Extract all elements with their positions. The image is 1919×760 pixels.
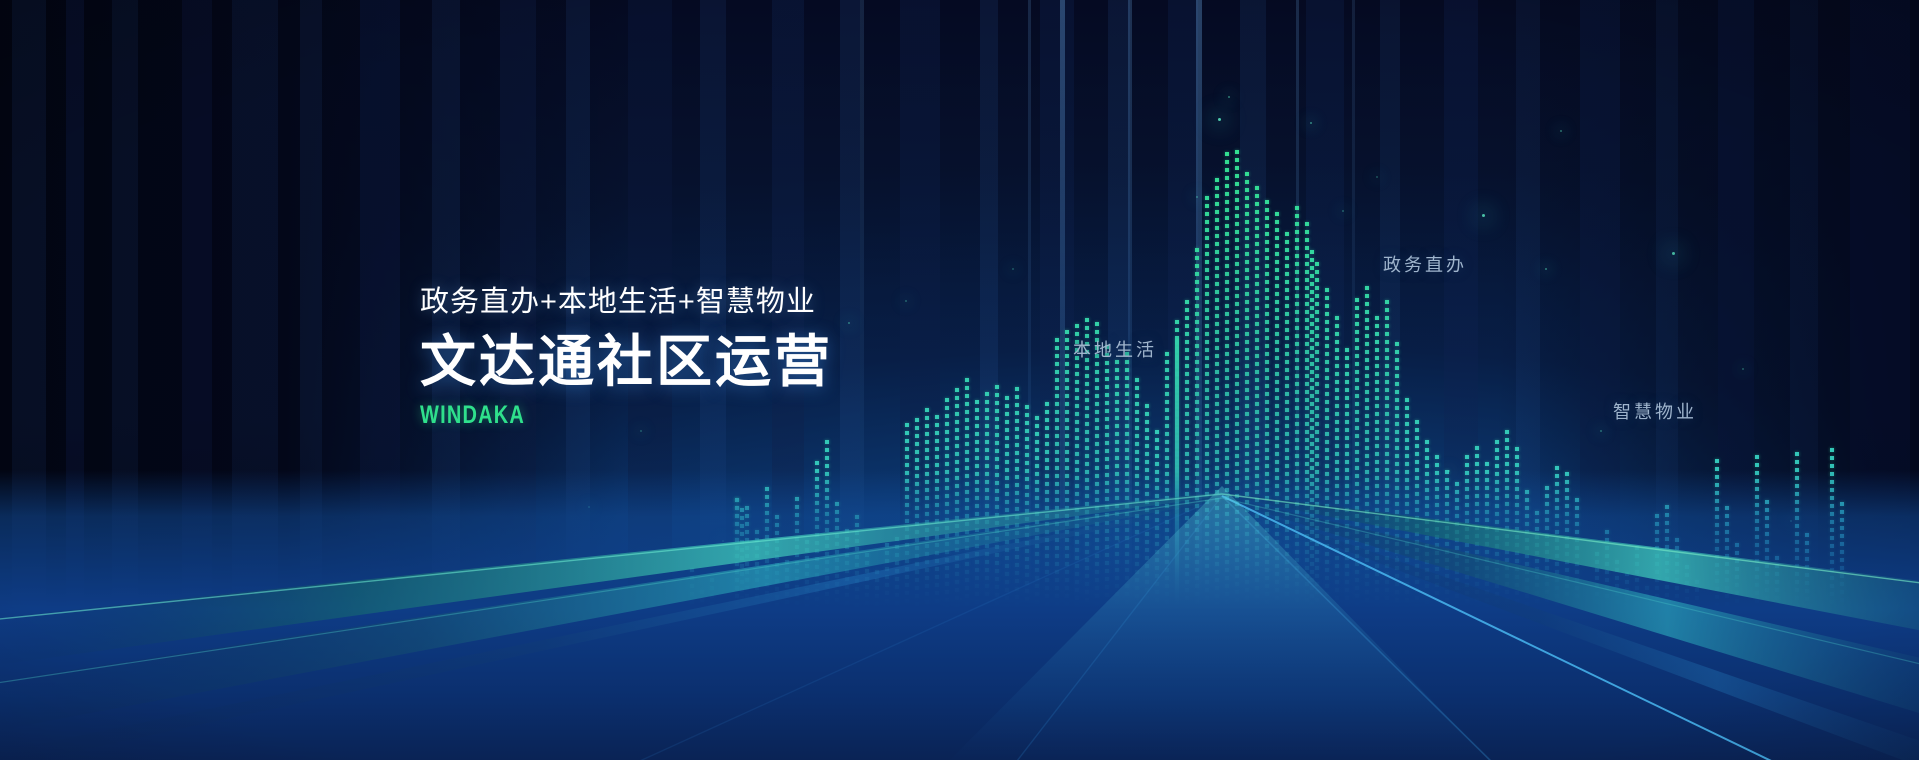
skyline-dot (1355, 394, 1359, 398)
skyline-dot (1055, 338, 1059, 342)
skyline-dot (1310, 282, 1314, 286)
skyline-dot (985, 432, 989, 436)
skyline-dot (1325, 288, 1329, 292)
skyline-dot (1405, 462, 1409, 466)
glow-particle (1545, 268, 1547, 270)
skyline-dot (1315, 310, 1319, 314)
skyline-dot (1310, 418, 1314, 422)
skyline-dot (945, 406, 949, 410)
skyline-dot (1235, 358, 1239, 362)
skyline-dot (1175, 328, 1179, 332)
skyline-dot (1425, 440, 1429, 444)
skyline-dot (1205, 316, 1209, 320)
skyline-dot (1245, 172, 1249, 176)
skyline-dot (1345, 436, 1349, 440)
skyline-dot (1185, 308, 1189, 312)
skyline-dot (1265, 312, 1269, 316)
skyline-dot (1375, 380, 1379, 384)
skyline-dot (1045, 418, 1049, 422)
skyline-dot (1265, 456, 1269, 460)
skyline-dot (1025, 413, 1029, 417)
skyline-dot (1405, 414, 1409, 418)
skyline-dot (1225, 432, 1229, 436)
skyline-dot (1385, 452, 1389, 456)
skyline-dot (1205, 372, 1209, 376)
skyline-dot (1285, 264, 1289, 268)
floating-label-smart-property: 智慧物业 (1613, 398, 1697, 424)
skyline-dot (1275, 380, 1279, 384)
skyline-dot (1065, 330, 1069, 334)
skyline-dot (1830, 448, 1834, 452)
skyline-dot (1285, 256, 1289, 260)
skyline-dot (1115, 400, 1119, 404)
skyline-dot (1295, 414, 1299, 418)
skyline-dot (1275, 316, 1279, 320)
skyline-dot (1115, 448, 1119, 452)
skyline-dot (1755, 455, 1759, 459)
skyline-dot (1095, 362, 1099, 366)
skyline-dot (1275, 364, 1279, 368)
skyline-dot (1315, 302, 1319, 306)
skyline-dot (1205, 196, 1209, 200)
skyline-dot (1165, 464, 1169, 468)
skyline-dot (1255, 410, 1259, 414)
skyline-dot (1185, 300, 1189, 304)
skyline-dot (925, 408, 929, 412)
skyline-dot (1195, 280, 1199, 284)
skyline-dot (1235, 246, 1239, 250)
skyline-dot (915, 418, 919, 422)
skyline-dot (1155, 430, 1159, 434)
skyline-dot (1345, 380, 1349, 384)
skyline-dot (1065, 402, 1069, 406)
skyline-dot (1315, 334, 1319, 338)
skyline-dot (1055, 450, 1059, 454)
skyline-dot (1385, 332, 1389, 336)
skyline-dot (1335, 348, 1339, 352)
skyline-dot (1435, 463, 1439, 467)
skyline-dot (995, 401, 999, 405)
skyline-dot (1355, 410, 1359, 414)
skyline-dot (1275, 388, 1279, 392)
skyline-dot (1225, 440, 1229, 444)
skyline-dot (975, 448, 979, 452)
skyline-dot (965, 434, 969, 438)
skyline-dot (1135, 426, 1139, 430)
skyline-dot (1225, 448, 1229, 452)
skyline-dot (1265, 392, 1269, 396)
skyline-dot (965, 426, 969, 430)
skyline-dot (1375, 372, 1379, 376)
skyline-dot (1105, 393, 1109, 397)
skyline-dot (1175, 364, 1179, 368)
skyline-dot (1015, 427, 1019, 431)
skyline-dot (1255, 378, 1259, 382)
skyline-dot (1265, 352, 1269, 356)
skyline-dot (1245, 332, 1249, 336)
skyline-dot (1425, 448, 1429, 452)
skyline-dot (1315, 446, 1319, 450)
skyline-dot (1285, 440, 1289, 444)
skyline-dot (1265, 448, 1269, 452)
skyline-dot (1095, 426, 1099, 430)
skyline-dot (1185, 404, 1189, 408)
skyline-dot (1225, 328, 1229, 332)
skyline-dot (1305, 390, 1309, 394)
skyline-dot (1365, 318, 1369, 322)
skyline-dot (1235, 390, 1239, 394)
skyline-dot (1225, 208, 1229, 212)
skyline-dot (1315, 414, 1319, 418)
skyline-dot (1045, 442, 1049, 446)
skyline-dot (1235, 166, 1239, 170)
skyline-dot (1265, 224, 1269, 228)
skyline-dot (1375, 316, 1379, 320)
skyline-dot (1105, 457, 1109, 461)
skyline-dot (1305, 374, 1309, 378)
skyline-dot (1255, 450, 1259, 454)
skyline-dot (1215, 226, 1219, 230)
skyline-dot (1085, 414, 1089, 418)
skyline-dot (1265, 384, 1269, 388)
skyline-dot (1315, 350, 1319, 354)
skyline-dot (905, 423, 909, 427)
skyline-dot (1095, 386, 1099, 390)
skyline-dot (1205, 396, 1209, 400)
skyline-dot (1225, 192, 1229, 196)
skyline-dot (985, 448, 989, 452)
skyline-dot (1305, 366, 1309, 370)
skyline-dot (1235, 222, 1239, 226)
skyline-dot (1105, 409, 1109, 413)
skyline-dot (1515, 455, 1519, 459)
skyline-dot (1105, 465, 1109, 469)
skyline-dot (1205, 268, 1209, 272)
skyline-dot (1365, 294, 1369, 298)
skyline-dot (985, 408, 989, 412)
skyline-dot (1065, 410, 1069, 414)
skyline-dot (1235, 374, 1239, 378)
skyline-dot (1255, 458, 1259, 462)
skyline-dot (1225, 400, 1229, 404)
skyline-dot (1005, 404, 1009, 408)
skyline-dot (1025, 461, 1029, 465)
skyline-dot (1245, 188, 1249, 192)
skyline-dot (935, 455, 939, 459)
skyline-dot (1295, 214, 1299, 218)
skyline-dot (1235, 150, 1239, 154)
skyline-dot (1505, 462, 1509, 466)
skyline-dot (1195, 288, 1199, 292)
skyline-dot (1225, 392, 1229, 396)
skyline-dot (1355, 322, 1359, 326)
skyline-dot (1335, 372, 1339, 376)
skyline-dot (1285, 336, 1289, 340)
skyline-dot (1215, 306, 1219, 310)
skyline-dot (1255, 306, 1259, 310)
skyline-dot (1205, 300, 1209, 304)
skyline-dot (1345, 412, 1349, 416)
skyline-dot (1225, 160, 1229, 164)
skyline-dot (1325, 304, 1329, 308)
skyline-dot (945, 430, 949, 434)
skyline-dot (1415, 428, 1419, 432)
skyline-dot (1205, 244, 1209, 248)
skyline-dot (1085, 462, 1089, 466)
skyline-dot (1195, 464, 1199, 468)
skyline-dot (1095, 370, 1099, 374)
skyline-dot (1175, 420, 1179, 424)
skyline-dot (1085, 446, 1089, 450)
skyline-dot (1265, 208, 1269, 212)
skyline-dot (1310, 458, 1314, 462)
skyline-dot (1365, 350, 1369, 354)
skyline-dot (1225, 216, 1229, 220)
skyline-dot (1185, 420, 1189, 424)
skyline-dot (1215, 394, 1219, 398)
skyline-dot (1465, 455, 1469, 459)
skyline-dot (1165, 456, 1169, 460)
skyline-dot (1025, 421, 1029, 425)
skyline-dot (915, 442, 919, 446)
skyline-dot (1235, 382, 1239, 386)
skyline-dot (1365, 406, 1369, 410)
skyline-dot (1305, 270, 1309, 274)
skyline-dot (1335, 332, 1339, 336)
skyline-dot (1375, 388, 1379, 392)
skyline-dot (1265, 280, 1269, 284)
skyline-dot (1225, 336, 1229, 340)
skyline-dot (1325, 320, 1329, 324)
skyline-dot (1325, 456, 1329, 460)
skyline-dot (1125, 408, 1129, 412)
skyline-dot (1205, 260, 1209, 264)
skyline-dot (1235, 270, 1239, 274)
skyline-dot (1015, 387, 1019, 391)
skyline-dot (1285, 464, 1289, 468)
skyline-dot (1245, 372, 1249, 376)
skyline-dot (1205, 444, 1209, 448)
skyline-dot (1005, 460, 1009, 464)
skyline-dot (1325, 336, 1329, 340)
skyline-dot (925, 448, 929, 452)
skyline-dot (1135, 410, 1139, 414)
skyline-dot (1325, 400, 1329, 404)
skyline-dot (915, 434, 919, 438)
skyline-dot (1255, 314, 1259, 318)
skyline-dot (1345, 396, 1349, 400)
skyline-dot (1305, 310, 1309, 314)
skyline-dot (1205, 252, 1209, 256)
skyline-dot (1155, 438, 1159, 442)
skyline-dot (825, 440, 829, 444)
skyline-dot (1175, 460, 1179, 464)
skyline-dot (1115, 424, 1119, 428)
skyline-dot (965, 394, 969, 398)
skyline-dot (1205, 364, 1209, 368)
skyline-dot (1165, 440, 1169, 444)
skyline-dot (1245, 220, 1249, 224)
skyline-dot (1225, 272, 1229, 276)
skyline-dot (1205, 412, 1209, 416)
skyline-dot (1085, 406, 1089, 410)
skyline-dot (1305, 454, 1309, 458)
skyline-dot (1235, 238, 1239, 242)
skyline-dot (1065, 354, 1069, 358)
skyline-dot (1385, 356, 1389, 360)
skyline-dot (1415, 444, 1419, 448)
skyline-dot (1285, 392, 1289, 396)
skyline-dot (1305, 398, 1309, 402)
skyline-dot (1265, 336, 1269, 340)
skyline-dot (1325, 392, 1329, 396)
skyline-dot (1325, 416, 1329, 420)
skyline-dot (1215, 250, 1219, 254)
skyline-dot (1185, 460, 1189, 464)
skyline-dot (1125, 376, 1129, 380)
skyline-dot (1255, 282, 1259, 286)
skyline-dot (1265, 200, 1269, 204)
skyline-dot (1335, 316, 1339, 320)
skyline-dot (1285, 360, 1289, 364)
skyline-dot (1310, 330, 1314, 334)
skyline-dot (995, 385, 999, 389)
skyline-dot (965, 442, 969, 446)
skyline-dot (1175, 436, 1179, 440)
skyline-dot (1325, 376, 1329, 380)
skyline-dot (1395, 454, 1399, 458)
skyline-dot (1095, 410, 1099, 414)
skyline-dot (1365, 446, 1369, 450)
skyline-dot (1055, 370, 1059, 374)
skyline-dot (1285, 320, 1289, 324)
skyline-dot (1335, 324, 1339, 328)
skyline-dot (1225, 224, 1229, 228)
skyline-dot (1215, 210, 1219, 214)
skyline-dot (1065, 378, 1069, 382)
skyline-dot (1055, 410, 1059, 414)
skyline-dot (1075, 436, 1079, 440)
skyline-dot (1255, 298, 1259, 302)
skyline-dot (1295, 342, 1299, 346)
skyline-dot (1135, 458, 1139, 462)
skyline-dot (1085, 318, 1089, 322)
skyline-dot (1205, 420, 1209, 424)
skyline-dot (1185, 372, 1189, 376)
skyline-dot (1305, 262, 1309, 266)
skyline-dot (1295, 302, 1299, 306)
skyline-dot (1235, 342, 1239, 346)
skyline-dot (1175, 340, 1179, 344)
skyline-dot (1235, 326, 1239, 330)
floating-label-local-life: 本地生活 (1073, 336, 1157, 362)
skyline-dot (915, 426, 919, 430)
skyline-dot (1045, 434, 1049, 438)
skyline-dot (1830, 464, 1834, 468)
skyline-dot (1310, 338, 1314, 342)
skyline-dot (1505, 446, 1509, 450)
skyline-dot (1255, 322, 1259, 326)
skyline-dot (1265, 432, 1269, 436)
skyline-dot (1035, 432, 1039, 436)
skyline-dot (905, 455, 909, 459)
skyline-dot (1275, 452, 1279, 456)
skyline-dot (1415, 452, 1419, 456)
skyline-dot (1365, 358, 1369, 362)
skyline-dot (1235, 318, 1239, 322)
skyline-dot (1395, 414, 1399, 418)
skyline-dot (1305, 438, 1309, 442)
skyline-dot (1305, 294, 1309, 298)
skyline-dot (1285, 408, 1289, 412)
skyline-dot (1105, 417, 1109, 421)
skyline-dot (955, 420, 959, 424)
skyline-dot (1365, 438, 1369, 442)
skyline-dot (1345, 388, 1349, 392)
skyline-dot (1245, 460, 1249, 464)
skyline-dot (975, 424, 979, 428)
skyline-dot (1175, 320, 1179, 324)
skyline-dot (1355, 458, 1359, 462)
skyline-dot (825, 456, 829, 460)
skyline-dot (1215, 426, 1219, 430)
skyline-dot (1295, 462, 1299, 466)
skyline-dot (1375, 356, 1379, 360)
skyline-dot (1215, 202, 1219, 206)
perspective-lines (0, 470, 1919, 760)
skyline-dot (1065, 434, 1069, 438)
skyline-dot (1105, 401, 1109, 405)
skyline-dot (1325, 344, 1329, 348)
skyline-dot (1195, 264, 1199, 268)
skyline-dot (1275, 420, 1279, 424)
skyline-dot (1035, 416, 1039, 420)
skyline-dot (945, 398, 949, 402)
skyline-dot (975, 408, 979, 412)
skyline-dot (1285, 400, 1289, 404)
skyline-dot (1205, 212, 1209, 216)
skyline-dot (1385, 300, 1389, 304)
skyline-dot (955, 396, 959, 400)
skyline-dot (1255, 386, 1259, 390)
skyline-dot (1305, 342, 1309, 346)
skyline-dot (1375, 428, 1379, 432)
skyline-dot (1345, 420, 1349, 424)
skyline-dot (1265, 248, 1269, 252)
skyline-dot (1335, 428, 1339, 432)
skyline-dot (1095, 402, 1099, 406)
skyline-dot (1305, 278, 1309, 282)
skyline-dot (1185, 452, 1189, 456)
skyline-dot (1245, 244, 1249, 248)
skyline-dot (1205, 452, 1209, 456)
skyline-dot (1215, 178, 1219, 182)
skyline-dot (1175, 404, 1179, 408)
skyline-dot (1145, 444, 1149, 448)
skyline-dot (1385, 372, 1389, 376)
skyline-dot (1195, 400, 1199, 404)
skyline-dot (1295, 334, 1299, 338)
skyline-dot (1265, 344, 1269, 348)
skyline-dot (1175, 444, 1179, 448)
skyline-dot (1275, 252, 1279, 256)
skyline-dot (1175, 356, 1179, 360)
skyline-dot (985, 424, 989, 428)
skyline-dot (925, 440, 929, 444)
skyline-dot (1225, 280, 1229, 284)
skyline-dot (1295, 454, 1299, 458)
skyline-dot (1215, 442, 1219, 446)
